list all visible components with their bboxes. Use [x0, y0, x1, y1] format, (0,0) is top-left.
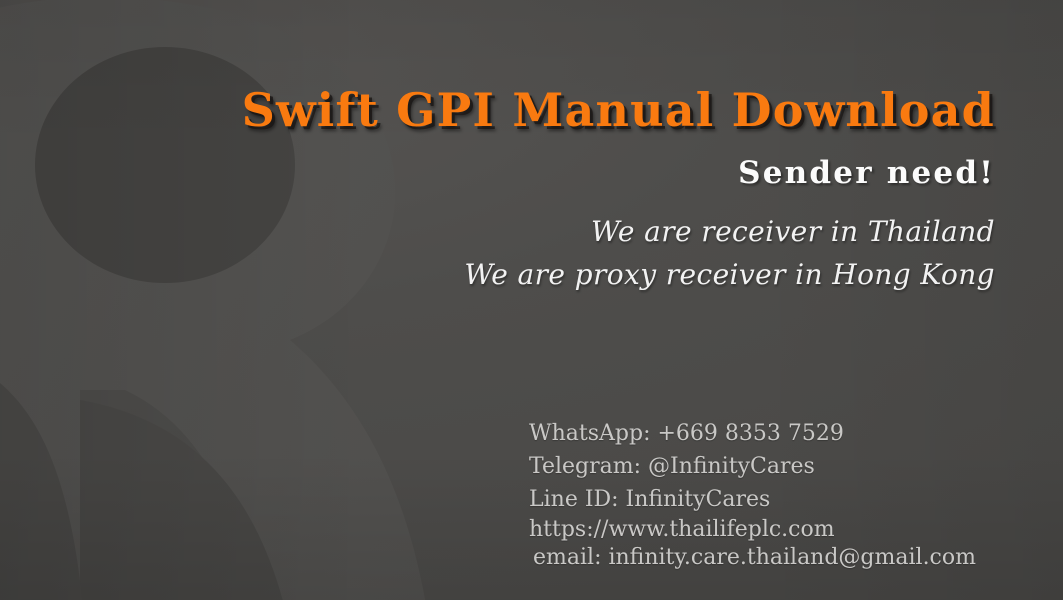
content-layer: Swift GPI Manual Download Sender need! W… [0, 0, 1063, 600]
script-statement-block: We are receiver in Thailand We are proxy… [0, 210, 995, 296]
script-line-proxy-receiver-hongkong: We are proxy receiver in Hong Kong [0, 253, 995, 296]
contact-line-email[interactable]: email: infinity.care.thailand@gmail.com [529, 544, 976, 572]
slide-canvas: Swift GPI Manual Download Sender need! W… [0, 0, 1063, 600]
subtitle-sender-need: Sender need! [0, 155, 995, 191]
contact-line-whatsapp[interactable]: WhatsApp: +669 8353 7529 [529, 417, 976, 450]
contact-line-telegram[interactable]: Telegram: @InfinityCares [529, 450, 976, 483]
page-title: Swift GPI Manual Download [0, 83, 995, 137]
contact-block: WhatsApp: +669 8353 7529 Telegram: @Infi… [529, 417, 976, 572]
script-line-receiver-thailand: We are receiver in Thailand [0, 210, 995, 253]
contact-line-line-id[interactable]: Line ID: InfinityCares [529, 483, 976, 516]
contact-line-website-url[interactable]: https://www.thailifeplc.com [529, 516, 976, 544]
